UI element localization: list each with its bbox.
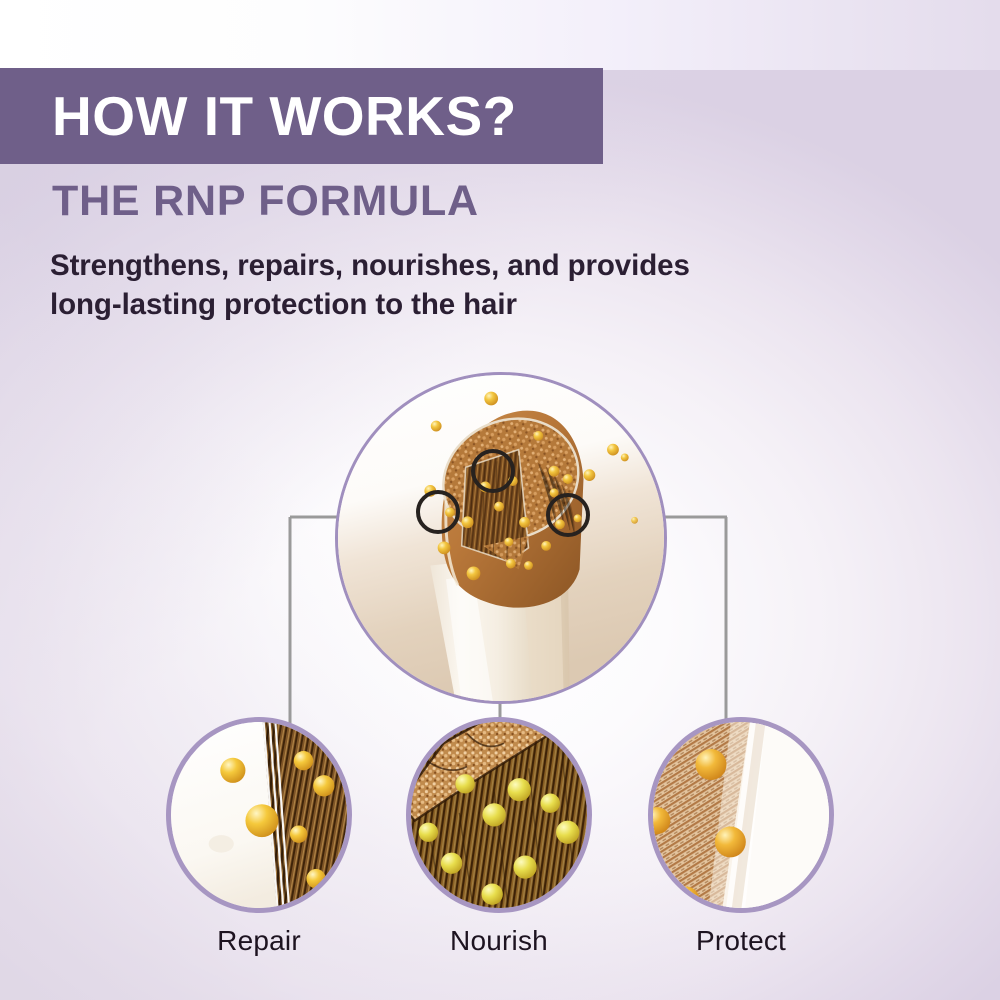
hero-illustration xyxy=(336,373,666,703)
background-top-strip xyxy=(0,0,1000,70)
description-line-1: Strengthens, repairs, nourishes, and pro… xyxy=(50,247,880,286)
protect-illustration xyxy=(651,720,831,910)
detail-circle-protect xyxy=(648,717,834,913)
detail-label-repair: Repair xyxy=(149,925,369,957)
page-title: HOW IT WORKS? xyxy=(52,89,517,144)
header-banner: HOW IT WORKS? xyxy=(0,68,603,164)
hero-magnifier-circle xyxy=(335,372,667,704)
subtitle: THE RNP FORMULA xyxy=(52,180,479,223)
repair-illustration xyxy=(169,720,349,910)
detail-circle-repair xyxy=(166,717,352,913)
description-line-2: long-lasting protection to the hair xyxy=(50,286,880,325)
nourish-illustration xyxy=(409,720,589,910)
detail-circle-nourish xyxy=(406,717,592,913)
marker-ring-protect xyxy=(546,493,590,537)
detail-label-protect: Protect xyxy=(631,925,851,957)
marker-ring-repair xyxy=(416,490,460,534)
marker-ring-nourish xyxy=(471,449,515,493)
description: Strengthens, repairs, nourishes, and pro… xyxy=(50,247,880,325)
detail-label-nourish: Nourish xyxy=(389,925,609,957)
